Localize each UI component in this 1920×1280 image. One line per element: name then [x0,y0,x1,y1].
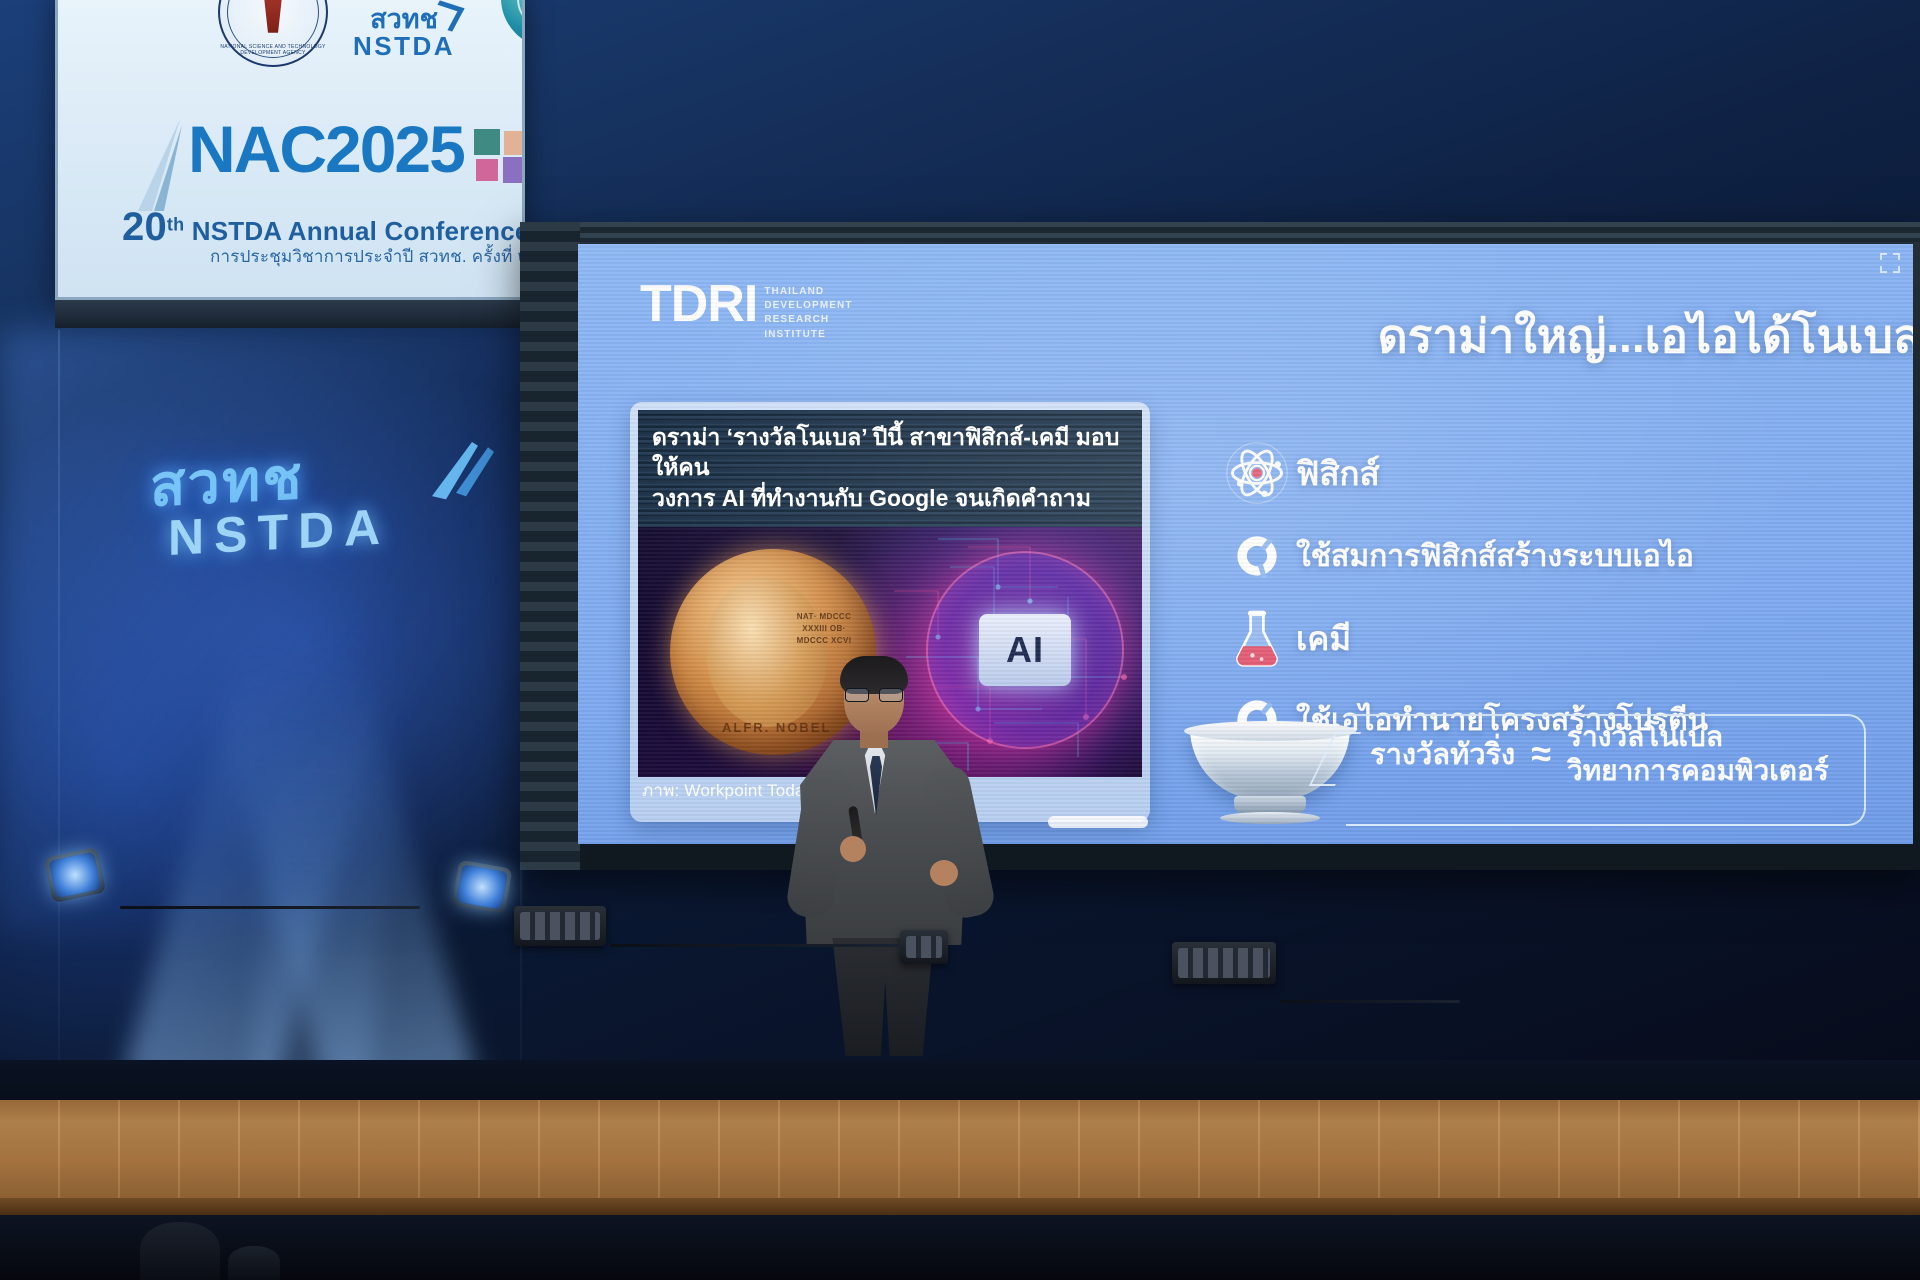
presentation-slide: TDRI Thailand Development Research Insti… [578,244,1913,844]
nac2025-banner: NATIONAL SCIENCE AND TECHNOLOGY DEVELOPM… [55,0,525,300]
bullet-item-physics-detail: ใช้สมการฟิสิกส์สร้างระบบเอไอ [1218,528,1908,584]
bullet-item-chemistry: เคมี [1218,606,1908,670]
speaker-right-hand [930,860,958,886]
power-cable [1280,1000,1460,1003]
tdri-expansion: Thailand Development Research Institute [764,285,852,342]
bullet-label: ใช้สมการฟิสิกส์สร้างระบบเอไอ [1296,533,1694,580]
speaker-person [800,660,980,1020]
flask-icon [1218,606,1296,670]
bullet-label: เคมี [1296,612,1351,665]
wall-panel-seam [58,330,60,1060]
stage-wash-light [1172,942,1276,984]
banner-bottom-bezel [55,300,525,328]
nac-conference-name: NSTDA Annual Conference [192,216,525,246]
nstda-banner-wordmark: สวทช NSTDA [353,7,455,62]
nstda-seal-icon: NATIONAL SCIENCE AND TECHNOLOGY DEVELOPM… [218,0,328,67]
expand-arrows-icon[interactable] [1879,252,1901,274]
nac-square-motif-icon [474,129,525,185]
stage-wash-light [514,906,606,946]
news-headline-line-1: ดราม่า ‘รางวัลโนเบล’ ปีนี้ สาขาฟิสิกส์-เ… [652,422,1128,483]
slide-title: ดราม่าใหญ่...เอไอได้โนเบล [1378,300,1913,373]
globe-badge-icon [498,0,525,51]
tdri-logo: TDRI Thailand Development Research Insti… [640,282,853,342]
slide-progress-indicator [1048,816,1148,828]
nac-edition-suffix: th [167,214,184,234]
nstda-swoosh-icon [426,435,496,505]
ai-chip-badge: AI [979,614,1071,686]
tdri-expansion-line: Research [764,313,852,327]
nac-conference-code: NAC2025 [188,119,464,180]
sail-icon [130,119,186,215]
approx-equals-icon: ≈ [1531,733,1551,775]
tdri-expansion-line: Institute [764,328,852,342]
audience-head [140,1222,220,1280]
stage-wash-light [900,930,948,964]
led-frame-top-edge [520,222,1920,242]
led-frame-left-ribs [520,222,580,870]
donut-chart-icon [1227,534,1288,578]
power-cable [120,906,420,909]
news-headline: ดราม่า ‘รางวัลโนเบล’ ปีนี้ สาขาฟิสิกส์-เ… [638,410,1142,527]
bullet-label: ฟิสิกส์ [1296,447,1380,500]
nstda-wall-logo: สวทช NSTDA [150,441,490,599]
ai-chip-label: AI [1006,629,1044,671]
presentation-photo: สวทช NSTDA NATIONAL SCIENCE AND TECHNOLO… [0,0,1920,1280]
tdri-acronym: TDRI [640,282,757,326]
nstda-wordmark-latin: NSTDA [353,31,455,62]
audience-area [0,1215,1920,1280]
par-light-fixture [451,860,512,915]
led-wall-frame: TDRI Thailand Development Research Insti… [520,222,1920,870]
tdri-expansion-line: Development [764,299,852,313]
nstda-seal-caption: NATIONAL SCIENCE AND TECHNOLOGY DEVELOPM… [220,44,326,56]
callout-right-line-1: รางวัลโนเบล [1567,720,1829,754]
nac-conference-name-thai: การประชุมวิชาการประจำปี สวทช. ครั้งที่ ๒… [210,243,525,270]
nobel-medal-inscription: NAT· MDCCC XXXIII OB· MDCCC XCVI [788,611,860,647]
news-headline-line-2: วงการ AI ที่ทำงานกับ Google จนเกิดคำถาม [652,483,1128,513]
turing-award-callout: รางวัลทัวริ่ง ≈ รางวัลโนเบล วิทยาการคอมพ… [1346,714,1866,826]
audience-head [228,1246,280,1280]
power-cable [610,944,900,947]
bullet-item-physics: ฟิสิกส์ [1218,440,1908,506]
atom-icon [1218,440,1296,506]
speaker-left-hand [840,836,866,862]
nac-edition-number: 20 [122,205,167,249]
callout-right-line-2: วิทยาการคอมพิวเตอร์ [1567,754,1829,788]
callout-right-text: รางวัลโนเบล วิทยาการคอมพิวเตอร์ [1567,720,1829,787]
callout-left-text: รางวัลทัวริ่ง [1370,731,1515,777]
glasses-icon [845,688,903,702]
nac-title-row: NAC2025 [130,119,525,215]
tdri-expansion-line: Thailand [764,285,852,299]
